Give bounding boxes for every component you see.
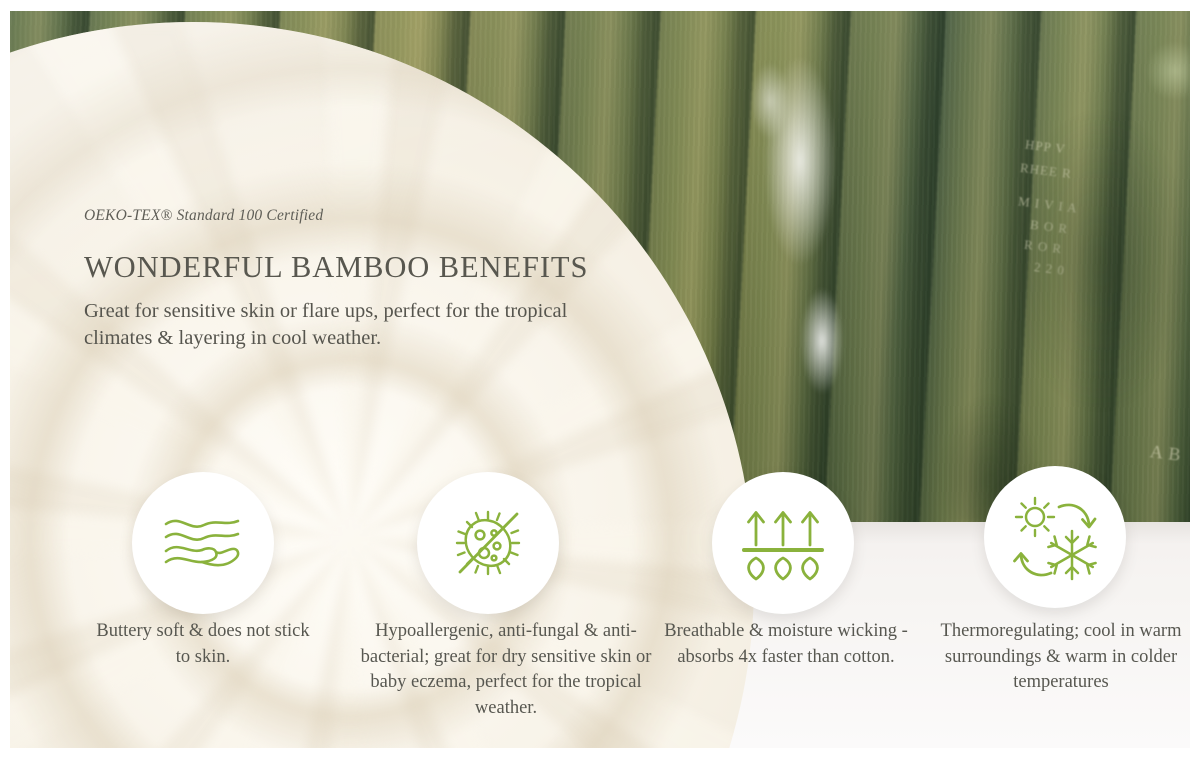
benefit-icon-bubble <box>712 472 854 614</box>
certification-eyebrow: OEKO-TEX® Standard 100 Certified <box>84 207 704 225</box>
moisture-wicking-arrows-droplets-icon <box>741 503 825 583</box>
carving-mark: R O R <box>1023 237 1063 258</box>
benefit-caption: Thermoregulating; cool in warm surroundi… <box>922 619 1190 696</box>
headline-block: OEKO-TEX® Standard 100 Certified WONDERF… <box>84 207 704 353</box>
benefit-icon-bubble <box>417 472 559 614</box>
subheadline: Great for sensitive skin or flare ups, p… <box>84 298 629 353</box>
carving-mark: A B <box>1149 441 1183 466</box>
benefit-caption: Breathable & moisture wicking - absorbs … <box>655 619 917 670</box>
benefit-icon-bubble <box>984 466 1126 608</box>
sun-snowflake-cycle-icon <box>1009 493 1101 581</box>
soft-waves-hand-icon <box>160 510 246 576</box>
carving-mark: M I V I A <box>1017 193 1078 216</box>
carving-mark: RHEE R <box>1019 160 1072 182</box>
benefit-icon-bubble <box>132 472 274 614</box>
bamboo-benefits-banner: HPP V RHEE R M I V I A B O R R O R 2 2 0… <box>0 0 1200 760</box>
carving-mark: HPP V <box>1024 137 1066 158</box>
carving-mark: 2 2 0 <box>1033 259 1066 279</box>
page-title: WONDERFUL BAMBOO BENEFITS <box>84 250 704 285</box>
anti-bacteria-crossed-out-icon <box>447 502 529 584</box>
benefit-caption: Hypoallergenic, anti-fungal & anti-bacte… <box>358 619 654 721</box>
carving-mark: B O R <box>1029 217 1069 238</box>
benefit-caption: Buttery soft & does not stick to skin. <box>87 619 319 670</box>
artboard: HPP V RHEE R M I V I A B O R R O R 2 2 0… <box>10 11 1190 748</box>
